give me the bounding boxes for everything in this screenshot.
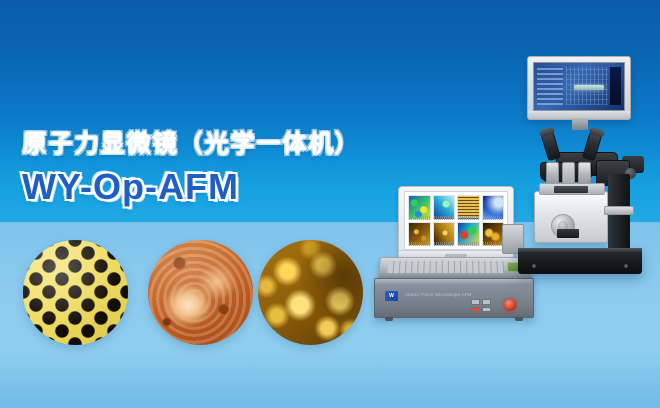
sample-image-copper-terrace [148, 240, 253, 345]
scan-thumbnail [408, 222, 431, 247]
thumbnail-caption [409, 242, 430, 246]
status-led-panel [471, 299, 491, 312]
thumbnail-caption [434, 216, 455, 220]
sample-image-gold-grain [258, 240, 363, 345]
thumbnail-caption [409, 216, 430, 220]
status-led [471, 307, 480, 313]
optical-afm-microscope [500, 56, 660, 356]
status-led [482, 299, 491, 305]
cantilever-probe-graphic [574, 85, 604, 90]
laptop-keyboard [387, 261, 504, 273]
thumbnail-caption [458, 242, 479, 246]
base-screw [624, 264, 628, 268]
base-screw [532, 264, 536, 268]
stage-translation-arm[interactable] [604, 206, 634, 215]
laptop-screen [404, 191, 508, 250]
eyepiece-left [540, 129, 561, 161]
scan-thumbnail [457, 195, 480, 220]
sample-slot [554, 186, 588, 193]
controller-foot [385, 317, 393, 321]
scan-thumbnail [433, 195, 456, 220]
scan-thumbnail [408, 195, 431, 220]
status-led [482, 307, 491, 313]
scanner-badge [557, 229, 579, 238]
sample-image-dot-lattice [23, 240, 128, 345]
page-title: 原子力显微镜（光学一体机） [22, 124, 360, 160]
status-led [471, 299, 480, 305]
brand-logo-icon: W [385, 291, 398, 301]
laptop-lid [398, 186, 514, 260]
eyepiece-cap [588, 127, 604, 138]
thumbnail-caption [458, 216, 479, 220]
monitor-screen [533, 62, 625, 111]
monitor-dark-margin [610, 67, 621, 105]
scan-thumbnail [457, 222, 480, 247]
thumbnail-caption [434, 242, 455, 246]
controller-front-label: Atomic Force Microscope AFM [405, 292, 472, 297]
scanner-top-plate [539, 183, 605, 195]
eyepiece-cap [538, 127, 554, 138]
lcd-monitor [527, 56, 631, 120]
monitor-side-panel [537, 67, 563, 105]
scan-thumbnail [433, 222, 456, 247]
product-model-label: WY-Op-AFM [22, 166, 239, 208]
microscope-column [608, 174, 630, 256]
granite-base [518, 248, 642, 274]
afm-scanner-head [534, 191, 608, 243]
product-banner: 原子力显微镜（光学一体机） WY-Op-AFM W [0, 0, 660, 408]
